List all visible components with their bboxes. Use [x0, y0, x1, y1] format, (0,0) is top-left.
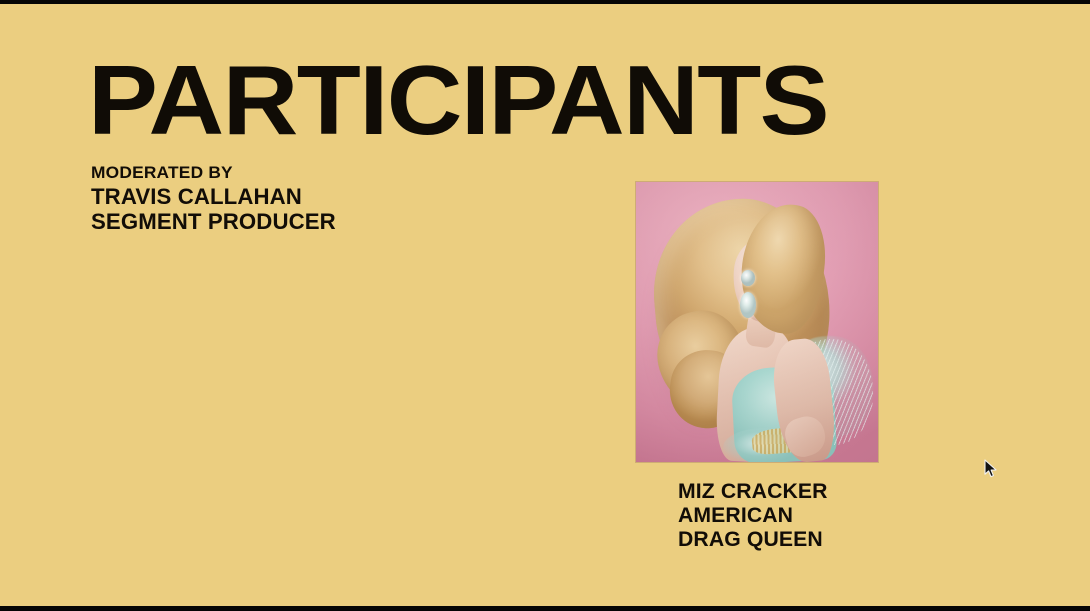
earring-stud — [741, 270, 755, 286]
moderator-kicker: MODERATED BY — [91, 162, 338, 184]
screen: PARTICIPANTS MODERATED BY TRAVIS CALLAHA… — [0, 0, 1090, 611]
mouse-cursor-arrow-icon — [984, 459, 998, 479]
subject-earring — [739, 270, 757, 318]
moderator-role: SEGMENT PRODUCER — [91, 209, 336, 234]
letterbox-bar-top — [0, 0, 1090, 4]
earring-drop — [740, 292, 756, 318]
participant-name: MIZ CRACKER — [678, 480, 828, 504]
presentation-slide: PARTICIPANTS MODERATED BY TRAVIS CALLAHA… — [0, 4, 1090, 606]
participant-nationality: AMERICAN — [678, 504, 828, 528]
participant-caption: MIZ CRACKER AMERICAN DRAG QUEEN — [678, 480, 826, 552]
page-title: PARTICIPANTS — [88, 51, 828, 149]
moderator-block: MODERATED BY TRAVIS CALLAHAN SEGMENT PRO… — [91, 162, 333, 234]
participant-title: DRAG QUEEN — [678, 528, 828, 552]
letterbox-bar-bottom — [0, 606, 1090, 611]
moderator-name: TRAVIS CALLAHAN — [91, 184, 336, 209]
participant-photo — [636, 182, 878, 462]
